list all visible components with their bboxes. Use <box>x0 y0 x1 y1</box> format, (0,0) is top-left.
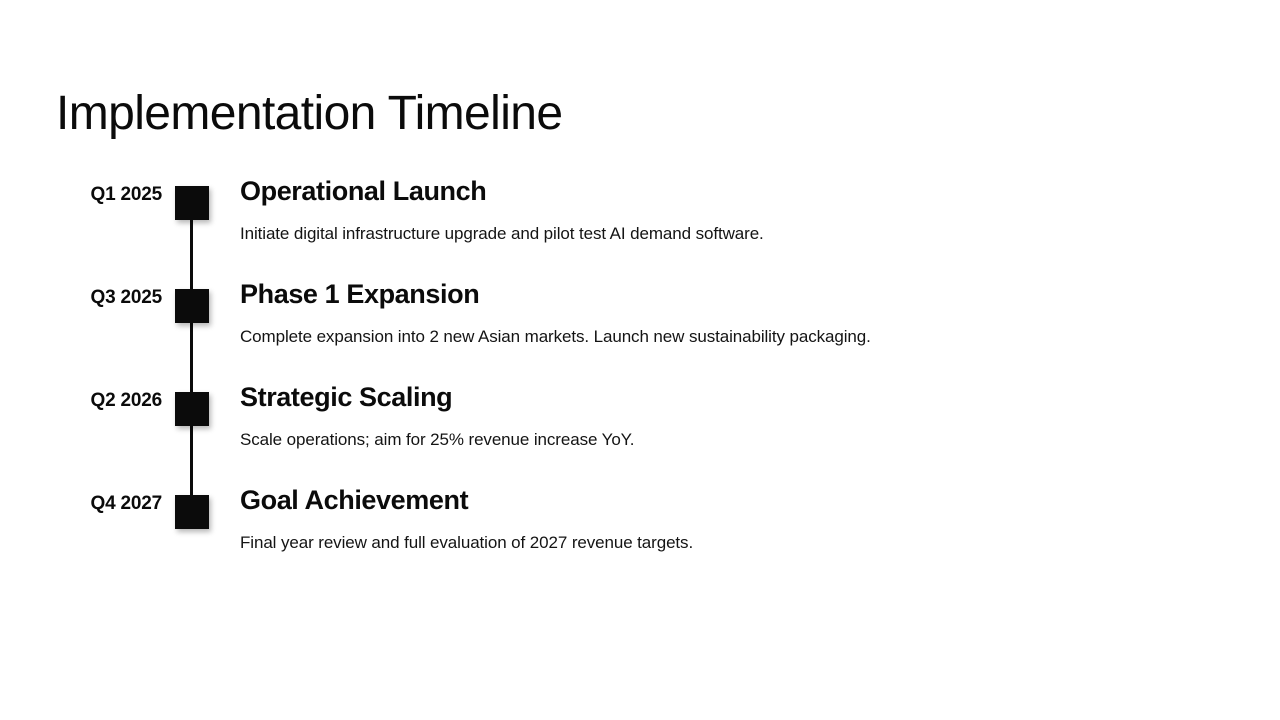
timeline-item-content: Phase 1 Expansion Complete expansion int… <box>240 277 1240 348</box>
page-title: Implementation Timeline <box>56 84 562 144</box>
filled-square-marker-icon <box>175 186 209 220</box>
timeline-date-label: Q2 2026 <box>0 390 162 412</box>
filled-square-marker-icon <box>175 289 209 323</box>
timeline-item[interactable]: Q2 2026 Strategic Scaling Scale operatio… <box>0 380 1280 483</box>
timeline-item[interactable]: Q1 2025 Operational Launch Initiate digi… <box>0 174 1280 277</box>
timeline-item-content: Operational Launch Initiate digital infr… <box>240 174 1240 245</box>
timeline-item-heading: Phase 1 Expansion <box>240 277 1240 311</box>
timeline-item-content: Goal Achievement Final year review and f… <box>240 483 1240 554</box>
timeline-item[interactable]: Q3 2025 Phase 1 Expansion Complete expan… <box>0 277 1280 380</box>
timeline-date-label: Q4 2027 <box>0 493 162 515</box>
timeline-item-heading: Strategic Scaling <box>240 380 1240 414</box>
timeline: Q1 2025 Operational Launch Initiate digi… <box>0 174 1280 586</box>
timeline-date-label: Q1 2025 <box>0 184 162 206</box>
timeline-item-heading: Operational Launch <box>240 174 1240 208</box>
slide-canvas: Implementation Timeline Q1 2025 Operatio… <box>0 0 1280 720</box>
timeline-item-description: Final year review and full evaluation of… <box>240 532 1240 554</box>
timeline-item-description: Scale operations; aim for 25% revenue in… <box>240 429 1240 451</box>
timeline-item-heading: Goal Achievement <box>240 483 1240 517</box>
timeline-item-description: Initiate digital infrastructure upgrade … <box>240 223 1240 245</box>
timeline-item[interactable]: Q4 2027 Goal Achievement Final year revi… <box>0 483 1280 586</box>
filled-square-marker-icon <box>175 495 209 529</box>
filled-square-marker-icon <box>175 392 209 426</box>
timeline-date-label: Q3 2025 <box>0 287 162 309</box>
timeline-item-content: Strategic Scaling Scale operations; aim … <box>240 380 1240 451</box>
timeline-item-description: Complete expansion into 2 new Asian mark… <box>240 326 1240 348</box>
